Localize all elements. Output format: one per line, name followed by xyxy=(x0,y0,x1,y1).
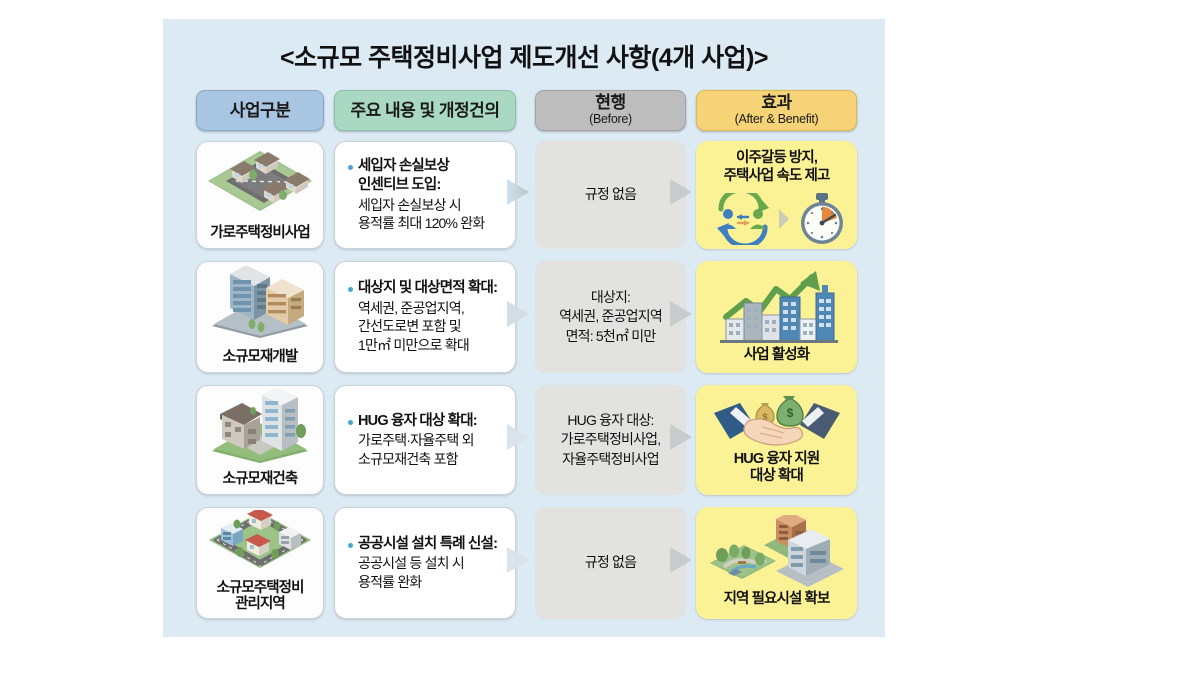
row-2-before-line2: 역세권, 준공업지역 xyxy=(559,308,662,324)
infographic-stage: <소규모 주택정비사업 제도개선 사항(4개 사업)> 사업구분 주요 내용 및… xyxy=(0,0,1200,674)
header-before-label: 현행 xyxy=(595,94,625,112)
table-row-3-before: HUG 융자 대상: 가로주택정비사업, 자율주택정비사업 xyxy=(535,385,686,495)
row-3-effect-line1: HUG 융자 지원 xyxy=(734,451,820,467)
row-2-proposal-body1: 역세권, 준공업지역, xyxy=(358,300,464,316)
table-row-4-category-label: 소규모주택정비 관리지역 xyxy=(197,580,323,612)
row-2-proposal-body3: 1만㎡ 미만으로 확대 xyxy=(358,337,469,353)
row-1-proposal-body2: 용적률 최대 120% 완화 xyxy=(358,215,484,231)
header-category: 사업구분 xyxy=(196,90,324,131)
table-row-2-before: 대상지: 역세권, 준공업지역 면적: 5천㎡ 미만 xyxy=(535,261,686,373)
row-3-before-line1: HUG 융자 대상: xyxy=(567,412,653,428)
row-1-proposal-heading: 세입자 손실보상 xyxy=(358,158,449,174)
arrow-row-2-a xyxy=(505,297,531,331)
svg-text:$: $ xyxy=(786,406,793,420)
handshake-with-money-bags-icon: $ $ xyxy=(696,391,857,451)
arrow-row-4-a xyxy=(505,543,531,577)
bullet-dot-icon xyxy=(348,420,353,425)
arrow-row-2-b xyxy=(668,297,694,331)
row-1-before-line1: 규정 없음 xyxy=(585,186,636,202)
isometric-house-and-apartment-icon xyxy=(197,392,323,460)
row-1-proposal-body1: 세입자 손실보상 시 xyxy=(358,197,461,213)
header-proposal: 주요 내용 및 개정건의 xyxy=(334,90,516,131)
row-3-effect-text: HUG 융자 지원 대상 확대 xyxy=(700,451,853,486)
row-2-before-line1: 대상지: xyxy=(591,289,630,305)
row-3-before-line3: 자율주택정비사업 xyxy=(562,451,659,467)
header-category-label: 사업구분 xyxy=(230,102,291,120)
table-row-4-category: 소규모주택정비 관리지역 xyxy=(196,507,324,619)
table-row-2-proposal: 대상지 및 대상면적 확대: 역세권, 준공업지역, 간선도로변 포함 및 1만… xyxy=(334,261,516,373)
row-2-proposal-body2: 간선도로변 포함 및 xyxy=(358,318,461,334)
row-3-effect-line2: 대상 확대 xyxy=(750,468,803,484)
header-proposal-label: 주요 내용 및 개정건의 xyxy=(351,102,500,120)
header-after-sublabel: (After & Benefit) xyxy=(735,112,819,126)
row-3-proposal-body1: 가로주택·자율주택 외 xyxy=(358,432,474,448)
arrow-row-1-a xyxy=(505,175,531,209)
row-2-effect-line1: 사업 활성화 xyxy=(744,347,809,363)
row-3-proposal-body2: 소규모재건축 포함 xyxy=(358,451,458,467)
row-2-effect-text: 사업 활성화 xyxy=(700,347,853,365)
row-3-proposal-heading: HUG 융자 대상 확대: xyxy=(358,412,477,431)
table-row-2-category: 소규모재개발 xyxy=(196,261,324,373)
arrow-row-4-b xyxy=(668,543,694,577)
row-4-effect-text: 지역 필요시설 확보 xyxy=(700,591,853,609)
row-4-effect-line1: 지역 필요시설 확보 xyxy=(724,591,830,607)
isometric-office-buildings-icon xyxy=(197,268,323,338)
bullet-dot-icon xyxy=(348,287,353,292)
table-row-1-category-label: 가로주택정비사업 xyxy=(197,225,323,241)
arrow-row-3-b xyxy=(668,420,694,454)
table-row-3-effect: $ $ HUG 융자 지원 대상 확대 xyxy=(696,385,857,495)
table-row-1-before: 규정 없음 xyxy=(535,141,686,249)
table-row-1-proposal: 세입자 손실보상 인센티브 도입: 세입자 손실보상 시 용적률 최대 120%… xyxy=(334,141,516,249)
isometric-row-houses-street-icon xyxy=(197,148,323,214)
row-4-proposal-body1: 공공시설 등 설치 시 xyxy=(358,555,464,571)
arrow-row-3-a xyxy=(505,420,531,454)
table-row-3-category-label: 소규모재건축 xyxy=(197,471,323,487)
row-4-category-line2: 관리지역 xyxy=(235,596,285,612)
table-row-3-proposal: HUG 융자 대상 확대: 가로주택·자율주택 외 소규모재건축 포함 xyxy=(334,385,516,495)
row-4-proposal-heading: 공공시설 설치 특례 신설: xyxy=(358,535,497,554)
isometric-neighborhood-block-icon xyxy=(197,514,323,568)
header-after: 효과 (After & Benefit) xyxy=(696,90,857,131)
table-row-4-proposal: 공공시설 설치 특례 신설: 공공시설 등 설치 시 용적률 완화 xyxy=(334,507,516,619)
row-4-before-line1: 규정 없음 xyxy=(585,554,636,570)
row-3-before-line2: 가로주택정비사업, xyxy=(561,431,661,447)
page-title: <소규모 주택정비사업 제도개선 사항(4개 사업)> xyxy=(163,38,885,74)
table-row-1-effect: 이주갈등 방지, 주택사업 속도 제고 xyxy=(696,141,857,249)
header-before-sublabel: (Before) xyxy=(589,112,632,126)
row-1-effect-line1: 이주갈등 방지, xyxy=(736,150,817,166)
table-row-3-category: 소규모재건축 xyxy=(196,385,324,495)
row-1-proposal-heading2: 인센티브 도입: xyxy=(358,177,441,193)
row-2-before-line3: 면적: 5천㎡ 미만 xyxy=(566,328,656,344)
isometric-park-and-facilities-icon xyxy=(696,515,857,587)
header-before: 현행 (Before) xyxy=(535,90,686,131)
table-row-2-effect: 사업 활성화 xyxy=(696,261,857,373)
arrow-row-1-b xyxy=(668,175,694,209)
table-row-4-before: 규정 없음 xyxy=(535,507,686,619)
people-exchange-and-stopwatch-icon xyxy=(696,193,857,245)
row-1-effect-text: 이주갈등 방지, 주택사업 속도 제고 xyxy=(700,150,853,185)
table-row-1-category: 가로주택정비사업 xyxy=(196,141,324,249)
header-after-label: 효과 xyxy=(761,94,791,112)
table-row-4-effect: 지역 필요시설 확보 xyxy=(696,507,857,619)
row-4-proposal-body2: 용적률 완화 xyxy=(358,574,422,590)
row-4-category-line1: 소규모주택정비 xyxy=(216,580,303,596)
row-1-effect-line2: 주택사업 속도 제고 xyxy=(724,168,830,184)
bullet-dot-icon xyxy=(348,165,353,170)
rising-arrow-over-city-skyline-icon xyxy=(696,269,857,343)
bullet-dot-icon xyxy=(348,543,353,548)
row-2-proposal-heading: 대상지 및 대상면적 확대: xyxy=(358,279,497,298)
table-row-2-category-label: 소규모재개발 xyxy=(197,349,323,365)
